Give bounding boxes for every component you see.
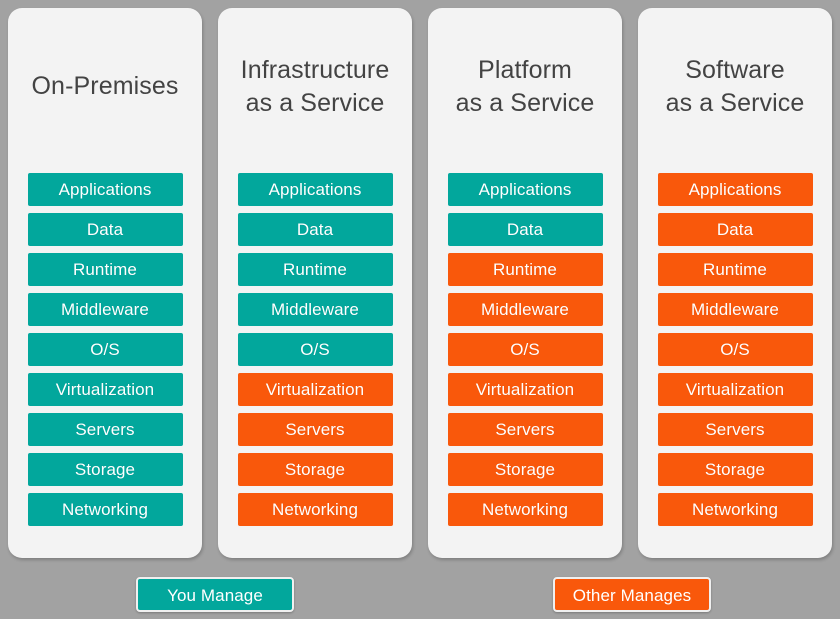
layer-networking[interactable]: Networking xyxy=(448,493,603,526)
column-card-platform-as-a-service[interactable]: Platform as a Service Applications Data … xyxy=(428,8,622,558)
layer-data[interactable]: Data xyxy=(448,213,603,246)
column-header-platform-as-a-service: Platform as a Service xyxy=(428,8,622,173)
layer-virtualization[interactable]: Virtualization xyxy=(238,373,393,406)
legend-you-manage[interactable]: You Manage xyxy=(136,577,294,612)
layer-storage[interactable]: Storage xyxy=(448,453,603,486)
layer-storage[interactable]: Storage xyxy=(238,453,393,486)
layer-data[interactable]: Data xyxy=(658,213,813,246)
column-header-line: Software xyxy=(685,54,784,87)
service-model-columns: On-Premises Applications Data Runtime Mi… xyxy=(8,8,832,558)
layer-servers[interactable]: Servers xyxy=(448,413,603,446)
layer-applications[interactable]: Applications xyxy=(238,173,393,206)
column-header-infrastructure-as-a-service: Infrastructure as a Service xyxy=(218,8,412,173)
layer-data[interactable]: Data xyxy=(28,213,183,246)
layer-middleware[interactable]: Middleware xyxy=(28,293,183,326)
layer-virtualization[interactable]: Virtualization xyxy=(658,373,813,406)
column-card-infrastructure-as-a-service[interactable]: Infrastructure as a Service Applications… xyxy=(218,8,412,558)
layer-applications[interactable]: Applications xyxy=(448,173,603,206)
layer-applications[interactable]: Applications xyxy=(658,173,813,206)
layer-list-on-premises: Applications Data Runtime Middleware O/S… xyxy=(8,173,202,540)
cloud-service-models-diagram: On-Premises Applications Data Runtime Mi… xyxy=(0,0,840,619)
layer-servers[interactable]: Servers xyxy=(28,413,183,446)
layer-os[interactable]: O/S xyxy=(238,333,393,366)
column-header-line: Infrastructure xyxy=(241,54,390,87)
layer-servers[interactable]: Servers xyxy=(238,413,393,446)
legend: You Manage Other Manages xyxy=(0,569,840,619)
column-header-line: as a Service xyxy=(666,87,805,120)
column-card-software-as-a-service[interactable]: Software as a Service Applications Data … xyxy=(638,8,832,558)
layer-middleware[interactable]: Middleware xyxy=(658,293,813,326)
column-header-on-premises: On-Premises xyxy=(8,8,202,173)
layer-runtime[interactable]: Runtime xyxy=(28,253,183,286)
layer-virtualization[interactable]: Virtualization xyxy=(448,373,603,406)
layer-os[interactable]: O/S xyxy=(658,333,813,366)
layer-networking[interactable]: Networking xyxy=(28,493,183,526)
layer-runtime[interactable]: Runtime xyxy=(238,253,393,286)
column-header-line: On-Premises xyxy=(32,70,179,103)
layer-list-software-as-a-service: Applications Data Runtime Middleware O/S… xyxy=(638,173,832,540)
column-header-line: as a Service xyxy=(246,87,385,120)
layer-data[interactable]: Data xyxy=(238,213,393,246)
layer-virtualization[interactable]: Virtualization xyxy=(28,373,183,406)
layer-networking[interactable]: Networking xyxy=(238,493,393,526)
layer-storage[interactable]: Storage xyxy=(28,453,183,486)
layer-list-platform-as-a-service: Applications Data Runtime Middleware O/S… xyxy=(428,173,622,540)
layer-list-infrastructure-as-a-service: Applications Data Runtime Middleware O/S… xyxy=(218,173,412,540)
layer-servers[interactable]: Servers xyxy=(658,413,813,446)
column-header-line: Platform xyxy=(478,54,572,87)
layer-applications[interactable]: Applications xyxy=(28,173,183,206)
layer-runtime[interactable]: Runtime xyxy=(448,253,603,286)
legend-other-manages[interactable]: Other Manages xyxy=(553,577,711,612)
layer-middleware[interactable]: Middleware xyxy=(238,293,393,326)
column-header-software-as-a-service: Software as a Service xyxy=(638,8,832,173)
column-card-on-premises[interactable]: On-Premises Applications Data Runtime Mi… xyxy=(8,8,202,558)
layer-storage[interactable]: Storage xyxy=(658,453,813,486)
layer-os[interactable]: O/S xyxy=(28,333,183,366)
layer-runtime[interactable]: Runtime xyxy=(658,253,813,286)
layer-middleware[interactable]: Middleware xyxy=(448,293,603,326)
column-header-line: as a Service xyxy=(456,87,595,120)
layer-os[interactable]: O/S xyxy=(448,333,603,366)
layer-networking[interactable]: Networking xyxy=(658,493,813,526)
